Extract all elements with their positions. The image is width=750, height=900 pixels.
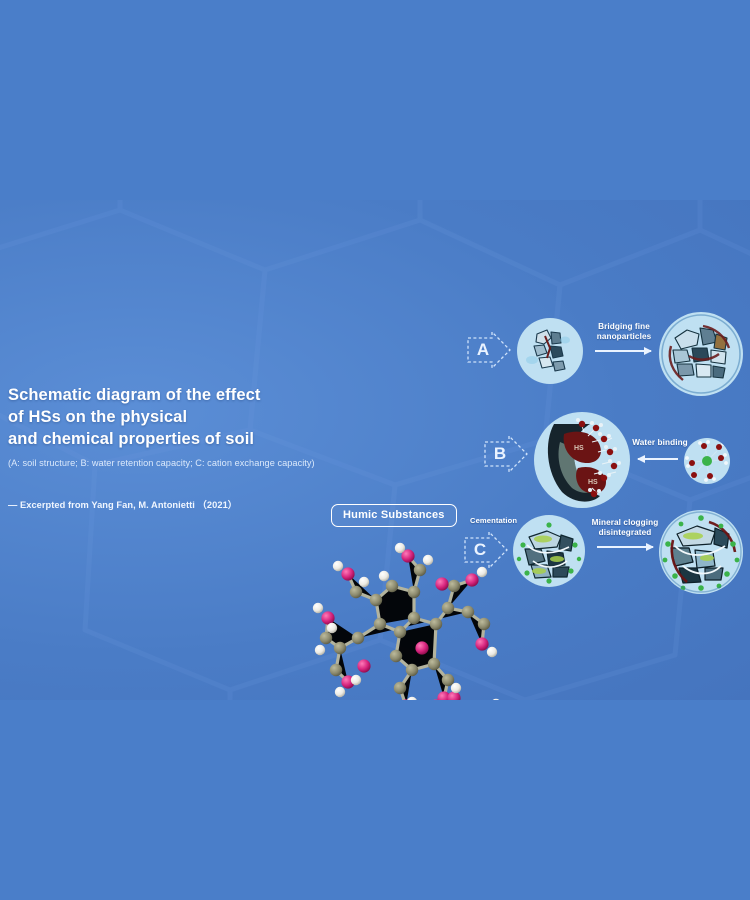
panel-c-right-disc xyxy=(659,510,743,594)
panel-a-arrow-label: Bridging fine nanoparticles xyxy=(586,322,662,341)
panel-c-arrow-label-line2: disintegrated xyxy=(580,528,670,538)
panel-a-marker: A xyxy=(466,330,512,370)
panel-c-arrow xyxy=(597,546,653,548)
panel-c-arrow-label: Mineral clogging disintegrated xyxy=(580,518,670,537)
panel-a: A xyxy=(0,312,750,412)
poster-canvas: Schematic diagram of the effect of HSs o… xyxy=(0,0,750,900)
panel-b-arrow xyxy=(638,458,678,460)
panel-b-right-disc xyxy=(684,438,730,484)
panel-a-arrow-label-line2: nanoparticles xyxy=(586,332,662,342)
panel-b-marker: B xyxy=(483,434,529,474)
figure-panel: Schematic diagram of the effect of HSs o… xyxy=(0,200,750,700)
panel-c-marker-label: C xyxy=(469,538,491,562)
panel-c-left-disc xyxy=(513,515,585,587)
panel-a-marker-label: A xyxy=(472,338,494,362)
panel-c: Cementation C xyxy=(0,510,750,610)
panel-c-arrow-label-line1: Mineral clogging xyxy=(580,518,670,528)
panel-a-left-disc xyxy=(517,318,583,384)
panel-b-arrow-label-line1: Water binding xyxy=(627,438,693,448)
svg-text:HS: HS xyxy=(574,445,584,452)
bottom-blue-band xyxy=(0,700,750,900)
panel-b-arrow-label: Water binding xyxy=(627,438,693,448)
svg-text:HS: HS xyxy=(588,479,598,486)
panel-c-marker: C xyxy=(463,530,509,570)
top-blue-band xyxy=(0,0,750,200)
panel-c-cementation-label: Cementation xyxy=(470,516,517,525)
panel-a-arrow xyxy=(595,350,651,352)
panel-a-right-disc xyxy=(659,312,743,396)
panel-b-marker-label: B xyxy=(489,442,511,466)
panel-a-arrow-label-line1: Bridging fine xyxy=(586,322,662,332)
panel-b-left-disc: HS HS xyxy=(534,412,630,508)
panel-b: B HS HS xyxy=(0,412,750,517)
